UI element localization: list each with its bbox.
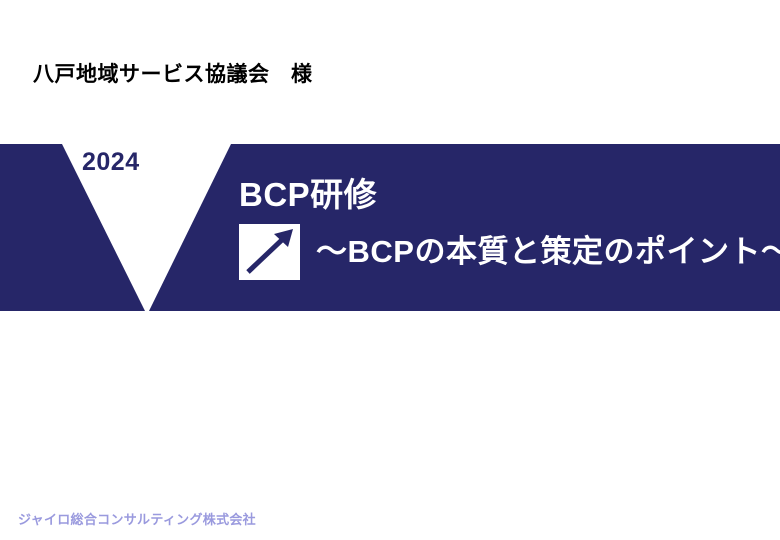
year-label: 2024 [82,149,140,177]
subtitle-row: 〜BCPの本質と策定のポイント〜 [239,224,769,280]
up-right-arrow-icon [239,224,300,280]
page-title: BCP研修 [239,176,769,214]
client-name-heading: 八戸地域サービス協議会 様 [33,62,313,87]
title-block: BCP研修 〜BCPの本質と策定のポイント〜 [239,176,769,280]
presentation-slide: 八戸地域サービス協議会 様 2024 BCP研修 〜BCPの本質と策定のポイント… [0,0,780,540]
page-subtitle: 〜BCPの本質と策定のポイント〜 [316,235,780,269]
footer-company-name: ジャイロ総合コンサルティング株式会社 [18,512,256,528]
